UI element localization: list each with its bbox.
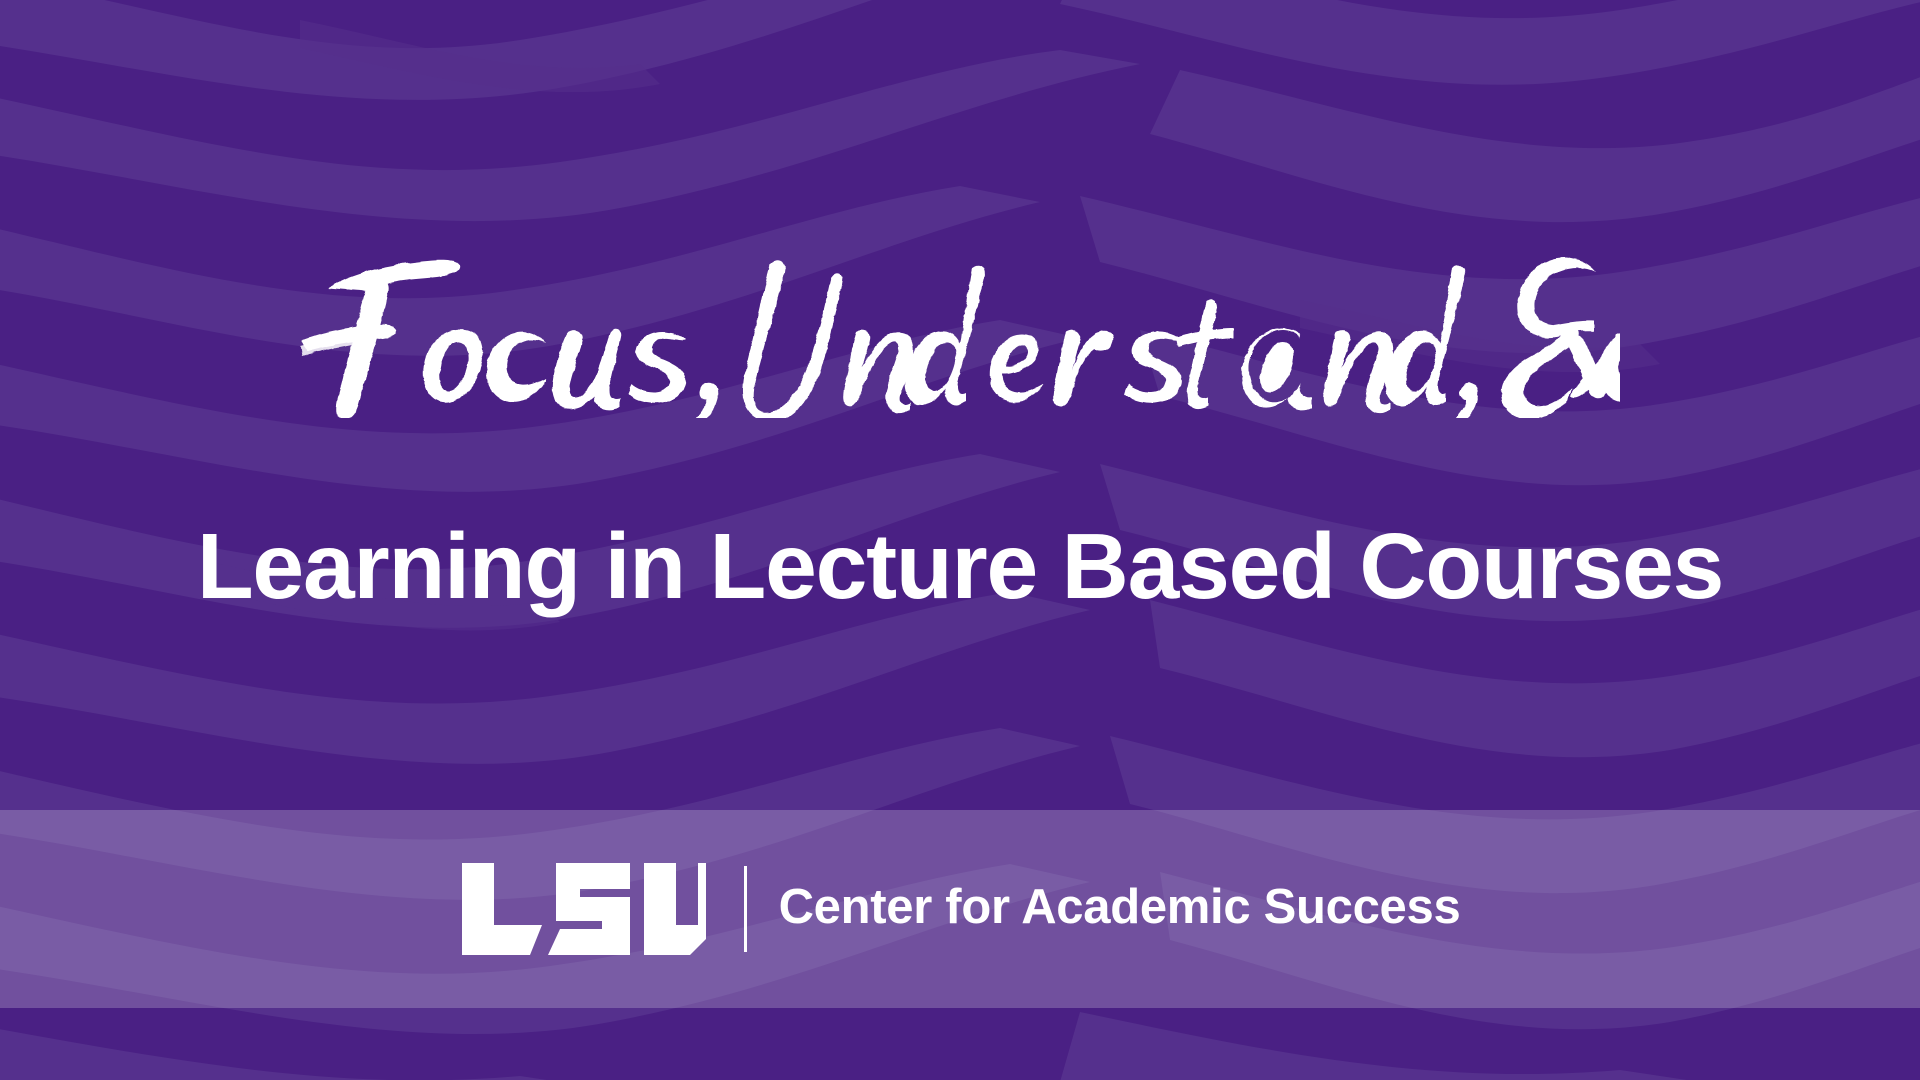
subtitle: Learning in Lecture Based Courses [0,518,1920,616]
footer-divider [744,866,747,952]
footer-content: LSU Center for Academic Success [0,810,1920,1008]
footer-band: LSU Center for Academic Success [0,810,1920,1008]
footer-unit-name: Center for Academic Success [779,883,1461,935]
headline-script: Focus, Understand, Excel: [0,228,1920,418]
title-slide: Focus, Understand, Excel: [0,0,1920,1080]
headline-accessible-text: Focus, Understand, Excel: [0,0,1,1]
lsu-logo: LSU [460,863,708,955]
